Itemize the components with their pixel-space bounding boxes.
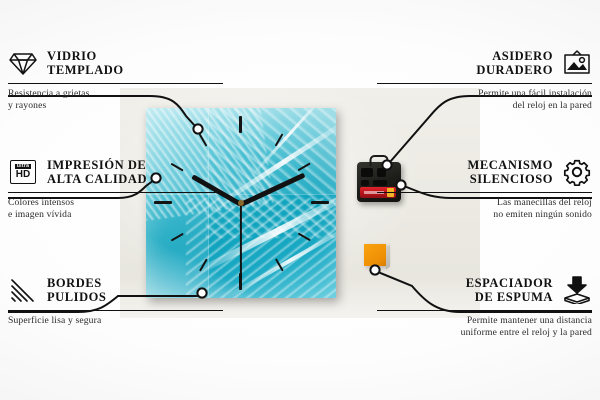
feature-vidrio-templado: VIDRIO TEMPLADO Resistencia a grietas y … <box>8 48 223 111</box>
divider <box>8 310 223 311</box>
feature-header: ESPACIADOR DE ESPUMA <box>377 275 592 305</box>
feature-description: Superficie lisa y segura <box>8 315 223 327</box>
divider <box>8 83 223 84</box>
feature-title: MECANISMO SILENCIOSO <box>467 158 553 186</box>
divider <box>377 310 592 311</box>
mechanism-slot-3 <box>361 180 369 186</box>
feature-header: ASIDERO DURADERO <box>377 48 592 78</box>
feature-description: Permite mantener una distancia uniforme … <box>377 315 592 338</box>
feature-header: MECANISMO SILENCIOSO <box>377 157 592 187</box>
feature-impresion-alta-calidad: ultra HD IMPRESIÓN DE ALTA CALIDAD Color… <box>8 157 223 220</box>
feature-bordes-pulidos: BORDES PULIDOS Superficie lisa y segura <box>8 275 223 327</box>
feature-description: Permite una fácil instalación del reloj … <box>377 88 592 111</box>
picture-frame-hanger-icon <box>562 48 592 78</box>
feature-title: IMPRESIÓN DE ALTA CALIDAD <box>47 158 147 186</box>
divider <box>377 192 592 193</box>
divider <box>8 192 223 193</box>
feature-header: BORDES PULIDOS <box>8 275 223 305</box>
feature-title: ESPACIADOR DE ESPUMA <box>466 276 553 304</box>
clock-hub <box>238 200 244 206</box>
foam-spacer <box>364 244 386 266</box>
gear-icon <box>562 157 592 187</box>
tick-12 <box>239 116 242 133</box>
foam-spacer-arrow-icon <box>562 275 592 305</box>
feature-description: Las manecillas del reloj no emiten ningú… <box>377 197 592 220</box>
feature-header: VIDRIO TEMPLADO <box>8 48 223 78</box>
feature-espaciador-de-espuma: ESPACIADOR DE ESPUMA Permite mantener un… <box>377 275 592 338</box>
hd-badge-bottom: HD <box>16 170 30 180</box>
feature-mecanismo-silencioso: MECANISMO SILENCIOSO Las manecillas del … <box>377 157 592 220</box>
tick-3 <box>311 201 329 204</box>
hd-badge: ultra HD <box>10 160 36 184</box>
diamond-icon <box>8 48 38 78</box>
feature-title: ASIDERO DURADERO <box>476 49 553 77</box>
mechanism-slot-1 <box>361 168 373 177</box>
infographic-canvas: VIDRIO TEMPLADO Resistencia a grietas y … <box>0 0 600 400</box>
feature-title: BORDES PULIDOS <box>47 276 106 304</box>
feature-description: Colores intensos e imagen vívida <box>8 197 223 220</box>
feature-header: ultra HD IMPRESIÓN DE ALTA CALIDAD <box>8 157 223 187</box>
divider <box>377 83 592 84</box>
second-hand <box>240 204 242 280</box>
feature-asidero-duradero: ASIDERO DURADERO Permite una fácil insta… <box>377 48 592 111</box>
ultra-hd-badge-icon: ultra HD <box>8 157 38 187</box>
polished-edges-icon <box>8 275 38 305</box>
feature-title: VIDRIO TEMPLADO <box>47 49 124 77</box>
feature-description: Resistencia a grietas y rayones <box>8 88 223 111</box>
foam-spacer-side <box>386 244 390 269</box>
